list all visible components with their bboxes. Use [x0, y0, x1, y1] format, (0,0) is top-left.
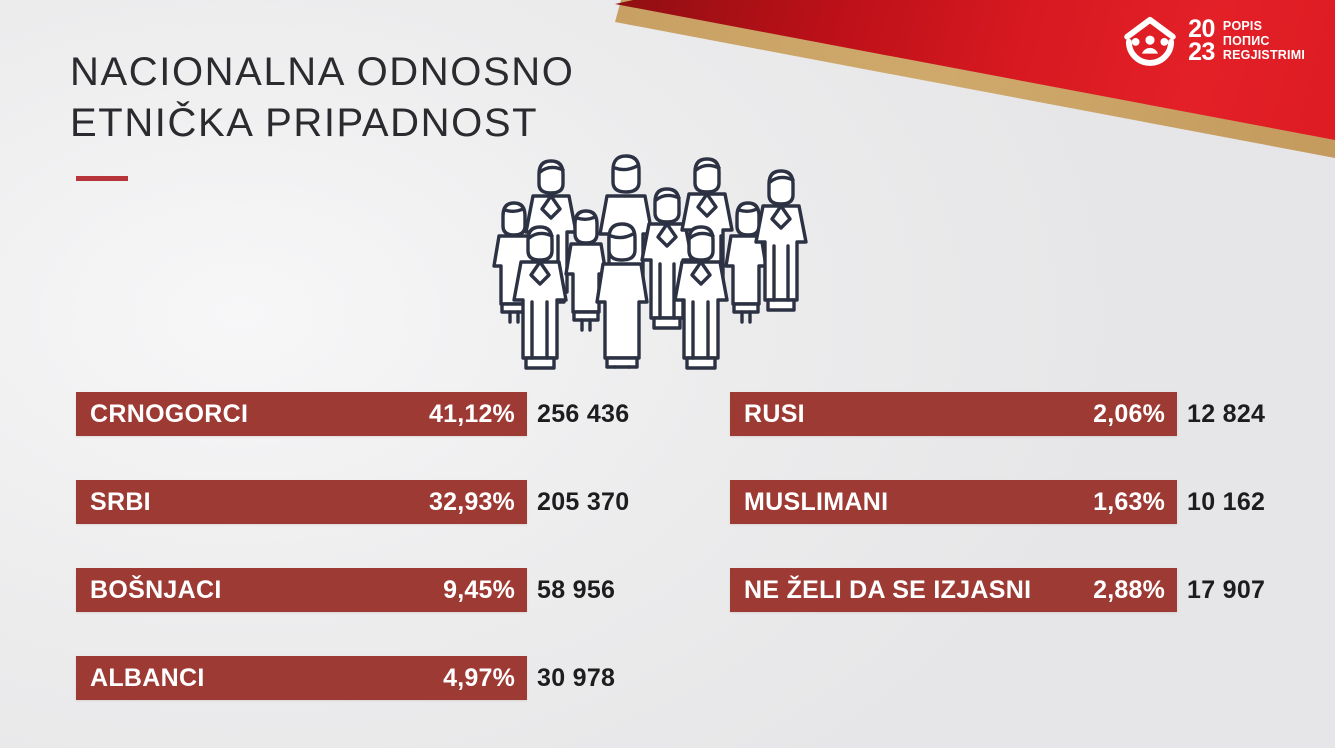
row-count: 58 956 — [527, 568, 615, 612]
bar-bosnjaci[interactable]: BOŠNJACI 9,45% — [76, 568, 527, 612]
bar-srbi[interactable]: SRBI 32,93% — [76, 480, 527, 524]
row-count: 12 824 — [1177, 392, 1265, 436]
table-row[interactable]: CRNOGORCI 41,12% 256 436 — [76, 392, 676, 436]
bar-percent: 2,06% — [1093, 400, 1165, 429]
logo-word-regjistrimi: REGJISTRIMI — [1223, 48, 1305, 62]
table-row[interactable]: NE ŽELI DA SE IZJASNI 2,88% 17 907 — [730, 568, 1330, 612]
bar-albanci[interactable]: ALBANCI 4,97% — [76, 656, 527, 700]
bar-percent: 2,88% — [1093, 576, 1165, 605]
row-count: 256 436 — [527, 392, 629, 436]
table-row[interactable]: MUSLIMANI 1,63% 10 162 — [730, 480, 1330, 524]
right-column: RUSI 2,06% 12 824 MUSLIMANI 1,63% 10 162… — [730, 392, 1330, 612]
bar-label: RUSI — [744, 400, 805, 429]
logo-wordmark: POPIS ПОПИС REGJISTRIMI — [1223, 19, 1305, 63]
table-row[interactable]: SRBI 32,93% 205 370 — [76, 480, 676, 524]
bar-percent: 1,63% — [1093, 488, 1165, 517]
logo-year: 20 23 — [1188, 18, 1215, 64]
bar-percent: 41,12% — [429, 400, 515, 429]
bar-ne-zeli-da-se-izjasni[interactable]: NE ŽELI DA SE IZJASNI 2,88% — [730, 568, 1177, 612]
row-count: 10 162 — [1177, 480, 1265, 524]
bar-label: NE ŽELI DA SE IZJASNI — [744, 576, 1031, 605]
table-row[interactable]: ALBANCI 4,97% 30 978 — [76, 656, 676, 700]
logo-year-bottom: 23 — [1188, 38, 1215, 66]
bar-label: MUSLIMANI — [744, 488, 888, 517]
logo-word-popis-lat: POPIS — [1223, 19, 1262, 33]
bar-label: CRNOGORCI — [90, 400, 248, 429]
logo-word-popis-cyr: ПОПИС — [1223, 34, 1270, 48]
bar-label: SRBI — [90, 488, 151, 517]
bar-crnogorci[interactable]: CRNOGORCI 41,12% — [76, 392, 527, 436]
table-row[interactable]: RUSI 2,06% 12 824 — [730, 392, 1330, 436]
bar-muslimani[interactable]: MUSLIMANI 1,63% — [730, 480, 1177, 524]
bar-rusi[interactable]: RUSI 2,06% — [730, 392, 1177, 436]
bar-percent: 4,97% — [443, 664, 515, 693]
ethnicity-chart: CRNOGORCI 41,12% 256 436 SRBI 32,93% 205… — [0, 0, 1335, 748]
house-people-smiley-icon — [1123, 14, 1177, 68]
bar-label: ALBANCI — [90, 664, 205, 693]
census-logo: 20 23 POPIS ПОПИС REGJISTRIMI — [1123, 14, 1305, 68]
left-column: CRNOGORCI 41,12% 256 436 SRBI 32,93% 205… — [76, 392, 676, 700]
row-count: 30 978 — [527, 656, 615, 700]
table-row[interactable]: BOŠNJACI 9,45% 58 956 — [76, 568, 676, 612]
bar-label: BOŠNJACI — [90, 576, 222, 605]
row-count: 17 907 — [1177, 568, 1265, 612]
bar-percent: 32,93% — [429, 488, 515, 517]
row-count: 205 370 — [527, 480, 629, 524]
bar-percent: 9,45% — [443, 576, 515, 605]
